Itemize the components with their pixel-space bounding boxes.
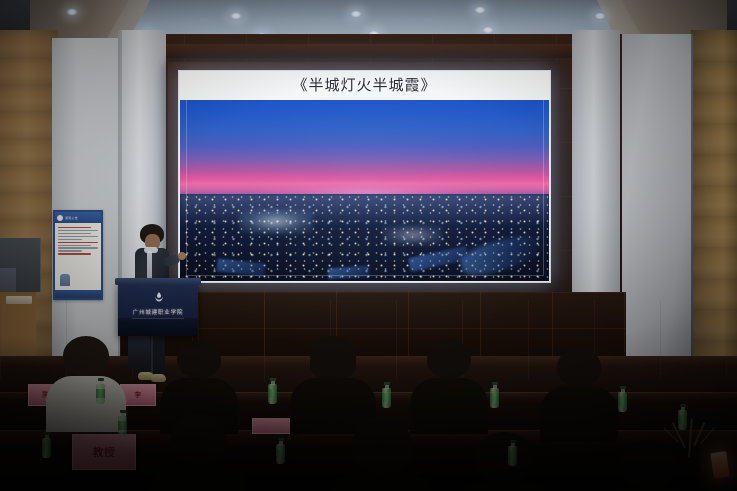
bottle-label bbox=[508, 451, 517, 460]
podium-institution-name: 广州城建职业学院 bbox=[118, 308, 198, 316]
slide-title: 《半城灯火半城霞》 bbox=[178, 73, 551, 97]
water-bottle bbox=[96, 378, 105, 404]
attendee-head bbox=[177, 340, 221, 378]
presentation-slide: 《半城灯火半城霞》 bbox=[178, 70, 551, 283]
poster-text-line bbox=[58, 250, 82, 251]
water-bottle bbox=[268, 378, 277, 404]
poster-text-line bbox=[58, 233, 91, 234]
podium-stand bbox=[128, 334, 150, 368]
audience-name-card: 教授 bbox=[72, 434, 136, 470]
attendee-front-far-left bbox=[150, 414, 246, 491]
poster-text-line bbox=[58, 236, 98, 237]
ceiling-downlight bbox=[230, 12, 242, 20]
lecture-hall-photo: 通知公告 《半城灯火半城霞》 bbox=[0, 0, 737, 491]
attendee-shoulders bbox=[46, 376, 126, 432]
bottle-label bbox=[276, 449, 285, 458]
poster-text-line bbox=[58, 230, 98, 231]
bottle-label bbox=[268, 389, 277, 398]
presenter-hand bbox=[178, 252, 186, 260]
dried-branch-arrangement-icon bbox=[660, 404, 720, 458]
attendee-head bbox=[475, 432, 533, 482]
bottle-label bbox=[490, 393, 499, 402]
poster-seal-icon bbox=[57, 215, 63, 221]
water-bottle bbox=[490, 382, 499, 408]
presenter-shoe bbox=[151, 374, 166, 382]
poster-footer bbox=[55, 290, 101, 298]
lit-phone-screen bbox=[710, 451, 729, 479]
poster-text-line bbox=[58, 247, 98, 248]
bottle-label bbox=[118, 421, 127, 430]
attendee-head bbox=[63, 336, 109, 376]
stage-header-beam bbox=[150, 44, 590, 58]
ceiling-downlight bbox=[350, 10, 362, 18]
name-card-text: 教授 bbox=[93, 444, 116, 460]
wall-notice-poster: 通知公告 bbox=[53, 210, 103, 300]
water-bottle bbox=[508, 440, 517, 466]
poster-text-line bbox=[58, 242, 98, 243]
water-bottle bbox=[382, 382, 391, 408]
projection-screen-frame: 《半城灯火半城霞》 bbox=[168, 62, 560, 292]
attendee-shoulders bbox=[330, 474, 434, 491]
bottle-label bbox=[618, 397, 627, 406]
ceiling-downlight bbox=[474, 6, 486, 14]
water-bottle bbox=[118, 410, 127, 436]
water-bottle bbox=[276, 438, 285, 464]
attendee-head bbox=[310, 336, 356, 378]
attendee-head bbox=[557, 348, 601, 386]
attendee-head bbox=[351, 418, 413, 474]
bottle-label bbox=[42, 443, 51, 452]
bottle-label bbox=[96, 389, 105, 398]
photo-light-cluster bbox=[239, 209, 313, 234]
water-bottle bbox=[618, 386, 627, 412]
attendee-front-right bbox=[456, 432, 552, 491]
institution-logo-icon bbox=[152, 291, 166, 305]
attendee-head bbox=[170, 414, 226, 464]
ceiling-downlight bbox=[594, 12, 606, 20]
poster-header-label: 通知公告 bbox=[65, 216, 78, 220]
poster-stamp-icon bbox=[60, 274, 70, 286]
slide-photo bbox=[180, 100, 549, 281]
poster-text-line bbox=[58, 253, 91, 254]
poster-text-line bbox=[58, 239, 82, 240]
poster-text-line bbox=[58, 245, 91, 246]
poster-text-line bbox=[58, 227, 91, 228]
photo-light-cluster bbox=[383, 225, 442, 245]
name-card-text: 李 bbox=[134, 390, 142, 400]
podium: 广州城建职业学院 bbox=[118, 282, 198, 336]
attendee-front-left-light-jacket bbox=[46, 336, 126, 432]
attendee-front-center bbox=[330, 418, 434, 491]
attendee-row2-far-right bbox=[540, 348, 618, 442]
bottle-label bbox=[382, 393, 391, 402]
attendee-shoulders bbox=[150, 464, 246, 491]
photo-blue-rooftop bbox=[327, 265, 368, 279]
attendee-shoulders bbox=[456, 482, 552, 491]
attendee-head bbox=[427, 340, 471, 378]
podium-front-panel bbox=[118, 318, 198, 336]
ceiling-downlight bbox=[482, 26, 494, 34]
presenter-collar bbox=[144, 247, 158, 253]
podium-top-surface bbox=[115, 278, 201, 285]
poster-body bbox=[55, 223, 101, 258]
poster-header: 通知公告 bbox=[55, 212, 101, 223]
ceiling-downlight bbox=[66, 8, 78, 16]
water-bottle bbox=[42, 432, 51, 458]
